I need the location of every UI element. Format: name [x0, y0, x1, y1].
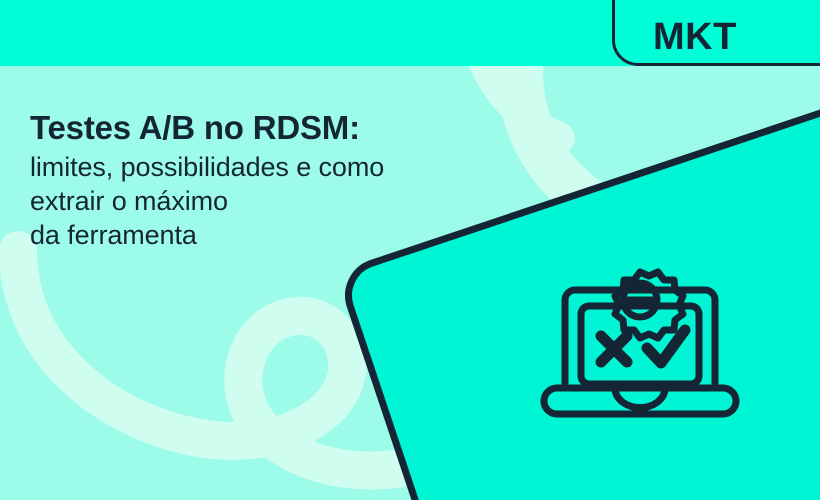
laptop-gear-ab-test-icon [535, 248, 745, 428]
title-block: Testes A/B no RDSM: limites, possibilida… [30, 108, 560, 252]
webinar-banner: WEBINAR MKT Testes A/B no RDSM: limites,… [0, 0, 820, 500]
mkt-badge-label: MKT [653, 13, 737, 61]
swirl-arc-top [520, 70, 820, 236]
subtitle-line-1: limites, possibilidades e como [30, 150, 560, 184]
subtitle-line-3: da ferramenta [30, 218, 560, 252]
page-title: Testes A/B no RDSM: [30, 108, 560, 148]
cross-mark-icon [601, 336, 627, 362]
subtitle-line-2: extrair o máximo [30, 184, 560, 218]
mkt-badge: MKT [612, 0, 820, 66]
